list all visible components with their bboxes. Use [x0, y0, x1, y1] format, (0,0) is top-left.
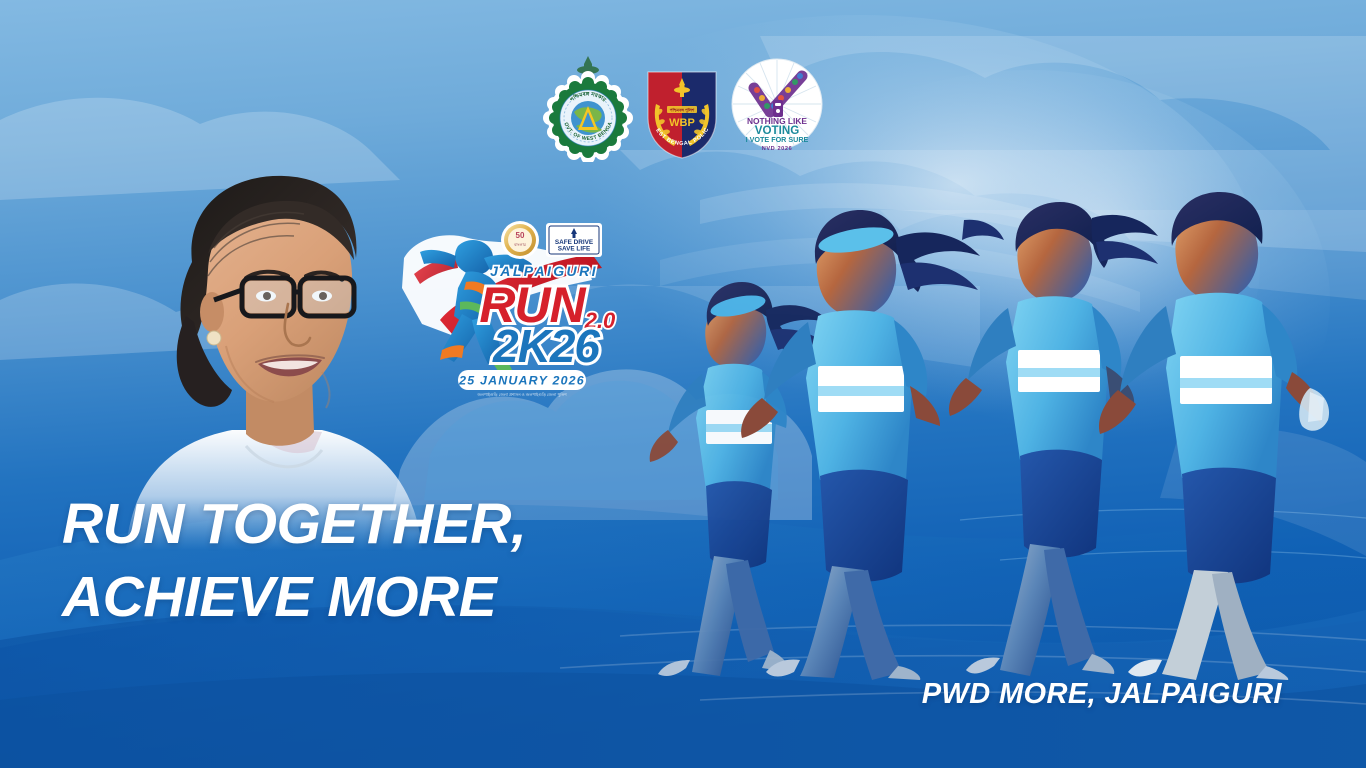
event-year-tag: 2K26 — [492, 320, 600, 372]
jubilee-label: 50 — [516, 231, 525, 240]
venue-label: PWD MORE, JALPAIGURI — [922, 678, 1282, 711]
event-date-pill: 25 JANUARY 2026 — [458, 370, 586, 390]
govt-of-west-bengal-emblem: পশ্চিমবঙ্গ সরকার GOVT. OF WEST BENGAL — [540, 52, 636, 162]
headline-line-1: RUN TOGETHER, — [62, 495, 702, 554]
nothing-like-voting-badge: NOTHING LIKE VOTING I VOTE FOR SURE NVD … — [728, 54, 826, 154]
wbp-monogram: WBP — [669, 117, 695, 129]
safe-drive-save-life-badge: SAFE DRIVE SAVE LIFE — [546, 223, 602, 257]
event-date-bengali: জলপাইগুড়ি জেলা প্রশাসন ও জলপাইগুড়ি জেল… — [476, 392, 567, 397]
runner-male-1 — [1099, 192, 1329, 680]
runners-illustration — [610, 160, 1366, 680]
golden-jubilee-badge: 50 বাংলার — [501, 221, 539, 259]
runner-female-3 — [949, 202, 1158, 676]
page-title: RUN TOGETHER, ACHIEVE MORE — [62, 495, 702, 626]
event-logo-lockup: 50 বাংলার SAFE DRIVE SAVE LIFE JALPAIGUR… — [396, 218, 630, 398]
partner-logo-row: পশ্চিমবঙ্গ সরকার GOVT. OF WEST BENGAL — [0, 52, 1366, 162]
west-bengal-police-shield: পশ্চিমবঙ্গ পুলিশ WBP WEST BENGAL POLICE — [642, 66, 722, 162]
nlv-line4: NVD 2026 — [762, 146, 793, 152]
headline-line-2: ACHIEVE MORE — [62, 568, 702, 627]
runner-female-2 — [741, 210, 1004, 680]
sdsl-line2: SAVE LIFE — [558, 246, 591, 253]
nlv-line3: I VOTE FOR SURE — [746, 135, 809, 144]
wbp-bengali-band: পশ্চিমবঙ্গ পুলিশ — [670, 108, 695, 114]
dignitary-portrait — [108, 150, 438, 550]
event-banner: পশ্চিমবঙ্গ সরকার GOVT. OF WEST BENGAL — [0, 0, 1366, 768]
event-date: 25 JANUARY 2026 — [458, 374, 585, 388]
jubilee-bengali: বাংলার — [513, 242, 527, 247]
